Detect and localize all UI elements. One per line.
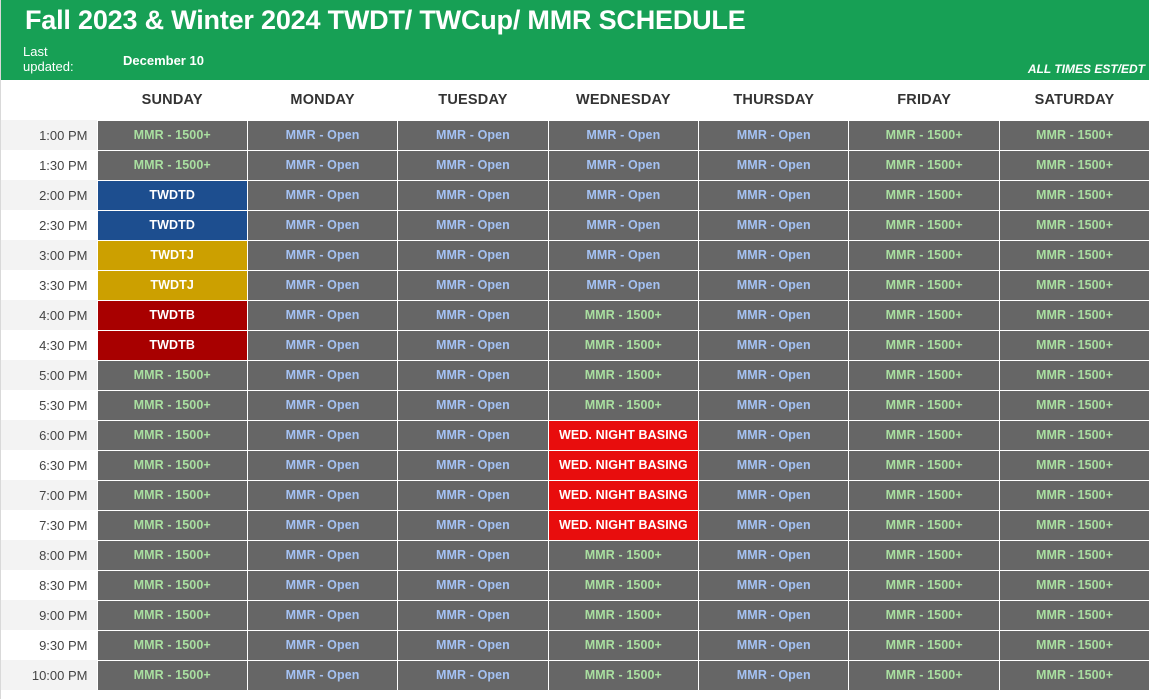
time-label: 7:30 PM xyxy=(1,510,97,540)
schedule-row: 9:00 PMMMR - 1500+MMR - OpenMMR - OpenMM… xyxy=(1,600,1149,630)
slot-saturday-mmr-1500[interactable]: MMR - 1500+ xyxy=(999,540,1149,570)
slot-sunday-mmr-1500[interactable]: MMR - 1500+ xyxy=(97,660,247,690)
slot-friday-mmr-1500[interactable]: MMR - 1500+ xyxy=(849,330,999,360)
time-label: 8:00 PM xyxy=(1,540,97,570)
slot-tuesday-mmr-open[interactable]: MMR - Open xyxy=(398,210,548,240)
schedule-row: 7:00 PMMMR - 1500+MMR - OpenMMR - OpenWE… xyxy=(1,480,1149,510)
slot-wednesday-mmr-open[interactable]: MMR - Open xyxy=(548,120,698,150)
slot-saturday-mmr-1500[interactable]: MMR - 1500+ xyxy=(999,180,1149,210)
last-updated-label: Last updated: xyxy=(23,44,101,74)
slot-thursday-mmr-open[interactable]: MMR - Open xyxy=(699,540,849,570)
slot-friday-mmr-1500[interactable]: MMR - 1500+ xyxy=(849,510,999,540)
slot-friday-mmr-1500[interactable]: MMR - 1500+ xyxy=(849,210,999,240)
slot-sunday-twdtj[interactable]: TWDTJ xyxy=(97,240,247,270)
slot-monday-mmr-open[interactable]: MMR - Open xyxy=(247,360,397,390)
slot-sunday-twdtd[interactable]: TWDTD xyxy=(97,180,247,210)
slot-sunday-mmr-1500[interactable]: MMR - 1500+ xyxy=(97,570,247,600)
day-header-thursday: THURSDAY xyxy=(699,80,849,120)
slot-tuesday-mmr-open[interactable]: MMR - Open xyxy=(398,270,548,300)
day-header-monday: MONDAY xyxy=(247,80,397,120)
slot-wednesday-mmr-1500[interactable]: MMR - 1500+ xyxy=(548,300,698,330)
day-header-row: SUNDAY MONDAY TUESDAY WEDNESDAY THURSDAY… xyxy=(1,80,1149,120)
slot-monday-mmr-open[interactable]: MMR - Open xyxy=(247,420,397,450)
slot-tuesday-mmr-open[interactable]: MMR - Open xyxy=(398,420,548,450)
slot-monday-mmr-open[interactable]: MMR - Open xyxy=(247,540,397,570)
time-label: 9:00 PM xyxy=(1,600,97,630)
slot-thursday-mmr-open[interactable]: MMR - Open xyxy=(699,240,849,270)
slot-monday-mmr-open[interactable]: MMR - Open xyxy=(247,330,397,360)
time-label: 6:00 PM xyxy=(1,420,97,450)
schedule-table: SUNDAY MONDAY TUESDAY WEDNESDAY THURSDAY… xyxy=(1,80,1149,691)
schedule-row: 5:00 PMMMR - 1500+MMR - OpenMMR - OpenMM… xyxy=(1,360,1149,390)
schedule-row: 10:00 PMMMR - 1500+MMR - OpenMMR - OpenM… xyxy=(1,660,1149,690)
slot-wednesday-mmr-1500[interactable]: MMR - 1500+ xyxy=(548,360,698,390)
slot-friday-mmr-1500[interactable]: MMR - 1500+ xyxy=(849,300,999,330)
slot-saturday-mmr-1500[interactable]: MMR - 1500+ xyxy=(999,240,1149,270)
slot-friday-mmr-1500[interactable]: MMR - 1500+ xyxy=(849,270,999,300)
slot-tuesday-mmr-open[interactable]: MMR - Open xyxy=(398,390,548,420)
slot-saturday-mmr-1500[interactable]: MMR - 1500+ xyxy=(999,600,1149,630)
slot-friday-mmr-1500[interactable]: MMR - 1500+ xyxy=(849,390,999,420)
slot-tuesday-mmr-open[interactable]: MMR - Open xyxy=(398,240,548,270)
slot-wednesday-mmr-1500[interactable]: MMR - 1500+ xyxy=(548,390,698,420)
time-label: 7:00 PM xyxy=(1,480,97,510)
slot-sunday-mmr-1500[interactable]: MMR - 1500+ xyxy=(97,390,247,420)
slot-sunday-mmr-1500[interactable]: MMR - 1500+ xyxy=(97,510,247,540)
slot-friday-mmr-1500[interactable]: MMR - 1500+ xyxy=(849,360,999,390)
slot-sunday-mmr-1500[interactable]: MMR - 1500+ xyxy=(97,600,247,630)
slot-sunday-mmr-1500[interactable]: MMR - 1500+ xyxy=(97,630,247,660)
day-header-sunday: SUNDAY xyxy=(97,80,247,120)
slot-thursday-mmr-open[interactable]: MMR - Open xyxy=(699,450,849,480)
slot-monday-mmr-open[interactable]: MMR - Open xyxy=(247,240,397,270)
slot-friday-mmr-1500[interactable]: MMR - 1500+ xyxy=(849,570,999,600)
slot-sunday-twdtd[interactable]: TWDTD xyxy=(97,210,247,240)
slot-friday-mmr-1500[interactable]: MMR - 1500+ xyxy=(849,630,999,660)
slot-saturday-mmr-1500[interactable]: MMR - 1500+ xyxy=(999,390,1149,420)
slot-thursday-mmr-open[interactable]: MMR - Open xyxy=(699,300,849,330)
schedule-row: 5:30 PMMMR - 1500+MMR - OpenMMR - OpenMM… xyxy=(1,390,1149,420)
slot-monday-mmr-open[interactable]: MMR - Open xyxy=(247,630,397,660)
slot-tuesday-mmr-open[interactable]: MMR - Open xyxy=(398,540,548,570)
day-header-wednesday: WEDNESDAY xyxy=(548,80,698,120)
slot-wednesday-mmr-1500[interactable]: MMR - 1500+ xyxy=(548,570,698,600)
slot-sunday-mmr-1500[interactable]: MMR - 1500+ xyxy=(97,450,247,480)
slot-thursday-mmr-open[interactable]: MMR - Open xyxy=(699,330,849,360)
slot-thursday-mmr-open[interactable]: MMR - Open xyxy=(699,480,849,510)
slot-friday-mmr-1500[interactable]: MMR - 1500+ xyxy=(849,180,999,210)
slot-sunday-twdtb[interactable]: TWDTB xyxy=(97,330,247,360)
time-label: 2:30 PM xyxy=(1,210,97,240)
day-header-tuesday: TUESDAY xyxy=(398,80,548,120)
slot-saturday-mmr-1500[interactable]: MMR - 1500+ xyxy=(999,630,1149,660)
slot-thursday-mmr-open[interactable]: MMR - Open xyxy=(699,120,849,150)
slot-monday-mmr-open[interactable]: MMR - Open xyxy=(247,150,397,180)
slot-wednesday-mmr-1500[interactable]: MMR - 1500+ xyxy=(548,330,698,360)
schedule-table-head: SUNDAY MONDAY TUESDAY WEDNESDAY THURSDAY… xyxy=(1,80,1149,120)
time-label: 10:00 PM xyxy=(1,660,97,690)
schedule-row: 2:00 PMTWDTDMMR - OpenMMR - OpenMMR - Op… xyxy=(1,180,1149,210)
slot-tuesday-mmr-open[interactable]: MMR - Open xyxy=(398,480,548,510)
time-label: 4:00 PM xyxy=(1,300,97,330)
slot-tuesday-mmr-open[interactable]: MMR - Open xyxy=(398,180,548,210)
slot-saturday-mmr-1500[interactable]: MMR - 1500+ xyxy=(999,360,1149,390)
slot-saturday-mmr-1500[interactable]: MMR - 1500+ xyxy=(999,570,1149,600)
slot-monday-mmr-open[interactable]: MMR - Open xyxy=(247,660,397,690)
slot-sunday-mmr-1500[interactable]: MMR - 1500+ xyxy=(97,150,247,180)
slot-tuesday-mmr-open[interactable]: MMR - Open xyxy=(398,150,548,180)
slot-monday-mmr-open[interactable]: MMR - Open xyxy=(247,570,397,600)
day-header-friday: FRIDAY xyxy=(849,80,999,120)
slot-friday-mmr-1500[interactable]: MMR - 1500+ xyxy=(849,600,999,630)
slot-wednesday-basing[interactable]: WED. NIGHT BASING xyxy=(548,510,698,540)
time-label: 1:30 PM xyxy=(1,150,97,180)
slot-tuesday-mmr-open[interactable]: MMR - Open xyxy=(398,300,548,330)
schedule-page: Fall 2023 & Winter 2024 TWDT/ TWCup/ MMR… xyxy=(0,0,1149,699)
slot-monday-mmr-open[interactable]: MMR - Open xyxy=(247,180,397,210)
slot-thursday-mmr-open[interactable]: MMR - Open xyxy=(699,660,849,690)
slot-monday-mmr-open[interactable]: MMR - Open xyxy=(247,450,397,480)
page-title: Fall 2023 & Winter 2024 TWDT/ TWCup/ MMR… xyxy=(25,5,746,36)
slot-tuesday-mmr-open[interactable]: MMR - Open xyxy=(398,510,548,540)
timezone-note: ALL TIMES EST/EDT xyxy=(1028,62,1145,76)
slot-monday-mmr-open[interactable]: MMR - Open xyxy=(247,390,397,420)
slot-wednesday-mmr-open[interactable]: MMR - Open xyxy=(548,240,698,270)
time-label: 9:30 PM xyxy=(1,630,97,660)
time-label: 3:00 PM xyxy=(1,240,97,270)
slot-wednesday-mmr-1500[interactable]: MMR - 1500+ xyxy=(548,540,698,570)
time-column-header xyxy=(1,80,97,120)
slot-sunday-mmr-1500[interactable]: MMR - 1500+ xyxy=(97,480,247,510)
slot-tuesday-mmr-open[interactable]: MMR - Open xyxy=(398,360,548,390)
slot-monday-mmr-open[interactable]: MMR - Open xyxy=(247,300,397,330)
slot-saturday-mmr-1500[interactable]: MMR - 1500+ xyxy=(999,330,1149,360)
slot-tuesday-mmr-open[interactable]: MMR - Open xyxy=(398,630,548,660)
schedule-row: 3:30 PMTWDTJMMR - OpenMMR - OpenMMR - Op… xyxy=(1,270,1149,300)
schedule-row: 6:00 PMMMR - 1500+MMR - OpenMMR - OpenWE… xyxy=(1,420,1149,450)
time-label: 2:00 PM xyxy=(1,180,97,210)
day-header-saturday: SATURDAY xyxy=(999,80,1149,120)
slot-monday-mmr-open[interactable]: MMR - Open xyxy=(247,210,397,240)
slot-friday-mmr-1500[interactable]: MMR - 1500+ xyxy=(849,420,999,450)
schedule-row: 4:00 PMTWDTBMMR - OpenMMR - OpenMMR - 15… xyxy=(1,300,1149,330)
schedule-row: 2:30 PMTWDTDMMR - OpenMMR - OpenMMR - Op… xyxy=(1,210,1149,240)
time-label: 3:30 PM xyxy=(1,270,97,300)
time-label: 5:30 PM xyxy=(1,390,97,420)
slot-friday-mmr-1500[interactable]: MMR - 1500+ xyxy=(849,150,999,180)
slot-tuesday-mmr-open[interactable]: MMR - Open xyxy=(398,660,548,690)
last-updated-value: December 10 xyxy=(123,53,204,68)
slot-monday-mmr-open[interactable]: MMR - Open xyxy=(247,270,397,300)
slot-wednesday-mmr-open[interactable]: MMR - Open xyxy=(548,180,698,210)
slot-tuesday-mmr-open[interactable]: MMR - Open xyxy=(398,600,548,630)
slot-sunday-twdtb[interactable]: TWDTB xyxy=(97,300,247,330)
slot-saturday-mmr-1500[interactable]: MMR - 1500+ xyxy=(999,120,1149,150)
slot-monday-mmr-open[interactable]: MMR - Open xyxy=(247,480,397,510)
time-label: 8:30 PM xyxy=(1,570,97,600)
slot-tuesday-mmr-open[interactable]: MMR - Open xyxy=(398,450,548,480)
slot-saturday-mmr-1500[interactable]: MMR - 1500+ xyxy=(999,420,1149,450)
slot-thursday-mmr-open[interactable]: MMR - Open xyxy=(699,600,849,630)
slot-wednesday-mmr-1500[interactable]: MMR - 1500+ xyxy=(548,630,698,660)
schedule-row: 1:30 PMMMR - 1500+MMR - OpenMMR - OpenMM… xyxy=(1,150,1149,180)
slot-sunday-twdtj[interactable]: TWDTJ xyxy=(97,270,247,300)
slot-saturday-mmr-1500[interactable]: MMR - 1500+ xyxy=(999,450,1149,480)
slot-sunday-mmr-1500[interactable]: MMR - 1500+ xyxy=(97,120,247,150)
page-banner: Fall 2023 & Winter 2024 TWDT/ TWCup/ MMR… xyxy=(1,0,1149,80)
slot-saturday-mmr-1500[interactable]: MMR - 1500+ xyxy=(999,300,1149,330)
slot-monday-mmr-open[interactable]: MMR - Open xyxy=(247,600,397,630)
schedule-row: 3:00 PMTWDTJMMR - OpenMMR - OpenMMR - Op… xyxy=(1,240,1149,270)
slot-friday-mmr-1500[interactable]: MMR - 1500+ xyxy=(849,450,999,480)
slot-saturday-mmr-1500[interactable]: MMR - 1500+ xyxy=(999,270,1149,300)
slot-saturday-mmr-1500[interactable]: MMR - 1500+ xyxy=(999,150,1149,180)
schedule-row: 8:30 PMMMR - 1500+MMR - OpenMMR - OpenMM… xyxy=(1,570,1149,600)
slot-sunday-mmr-1500[interactable]: MMR - 1500+ xyxy=(97,420,247,450)
slot-thursday-mmr-open[interactable]: MMR - Open xyxy=(699,510,849,540)
slot-tuesday-mmr-open[interactable]: MMR - Open xyxy=(398,570,548,600)
slot-thursday-mmr-open[interactable]: MMR - Open xyxy=(699,390,849,420)
slot-friday-mmr-1500[interactable]: MMR - 1500+ xyxy=(849,540,999,570)
schedule-row: 9:30 PMMMR - 1500+MMR - OpenMMR - OpenMM… xyxy=(1,630,1149,660)
slot-friday-mmr-1500[interactable]: MMR - 1500+ xyxy=(849,480,999,510)
slot-wednesday-mmr-open[interactable]: MMR - Open xyxy=(548,270,698,300)
time-label: 1:00 PM xyxy=(1,120,97,150)
slot-thursday-mmr-open[interactable]: MMR - Open xyxy=(699,270,849,300)
schedule-row: 7:30 PMMMR - 1500+MMR - OpenMMR - OpenWE… xyxy=(1,510,1149,540)
slot-wednesday-basing[interactable]: WED. NIGHT BASING xyxy=(548,420,698,450)
slot-friday-mmr-1500[interactable]: MMR - 1500+ xyxy=(849,240,999,270)
slot-saturday-mmr-1500[interactable]: MMR - 1500+ xyxy=(999,660,1149,690)
schedule-row: 1:00 PMMMR - 1500+MMR - OpenMMR - OpenMM… xyxy=(1,120,1149,150)
slot-thursday-mmr-open[interactable]: MMR - Open xyxy=(699,570,849,600)
time-label: 6:30 PM xyxy=(1,450,97,480)
slot-saturday-mmr-1500[interactable]: MMR - 1500+ xyxy=(999,210,1149,240)
slot-thursday-mmr-open[interactable]: MMR - Open xyxy=(699,420,849,450)
slot-thursday-mmr-open[interactable]: MMR - Open xyxy=(699,210,849,240)
schedule-row: 8:00 PMMMR - 1500+MMR - OpenMMR - OpenMM… xyxy=(1,540,1149,570)
slot-sunday-mmr-1500[interactable]: MMR - 1500+ xyxy=(97,540,247,570)
slot-wednesday-mmr-1500[interactable]: MMR - 1500+ xyxy=(548,600,698,630)
slot-monday-mmr-open[interactable]: MMR - Open xyxy=(247,120,397,150)
slot-wednesday-basing[interactable]: WED. NIGHT BASING xyxy=(548,480,698,510)
schedule-row: 6:30 PMMMR - 1500+MMR - OpenMMR - OpenWE… xyxy=(1,450,1149,480)
slot-tuesday-mmr-open[interactable]: MMR - Open xyxy=(398,330,548,360)
slot-wednesday-basing[interactable]: WED. NIGHT BASING xyxy=(548,450,698,480)
slot-saturday-mmr-1500[interactable]: MMR - 1500+ xyxy=(999,480,1149,510)
slot-friday-mmr-1500[interactable]: MMR - 1500+ xyxy=(849,660,999,690)
slot-friday-mmr-1500[interactable]: MMR - 1500+ xyxy=(849,120,999,150)
time-label: 5:00 PM xyxy=(1,360,97,390)
slot-thursday-mmr-open[interactable]: MMR - Open xyxy=(699,150,849,180)
time-label: 4:30 PM xyxy=(1,330,97,360)
schedule-row: 4:30 PMTWDTBMMR - OpenMMR - OpenMMR - 15… xyxy=(1,330,1149,360)
slot-thursday-mmr-open[interactable]: MMR - Open xyxy=(699,360,849,390)
schedule-table-body: 1:00 PMMMR - 1500+MMR - OpenMMR - OpenMM… xyxy=(1,120,1149,690)
slot-sunday-mmr-1500[interactable]: MMR - 1500+ xyxy=(97,360,247,390)
slot-tuesday-mmr-open[interactable]: MMR - Open xyxy=(398,120,548,150)
slot-thursday-mmr-open[interactable]: MMR - Open xyxy=(699,630,849,660)
slot-wednesday-mmr-1500[interactable]: MMR - 1500+ xyxy=(548,660,698,690)
slot-wednesday-mmr-open[interactable]: MMR - Open xyxy=(548,150,698,180)
slot-wednesday-mmr-open[interactable]: MMR - Open xyxy=(548,210,698,240)
slot-saturday-mmr-1500[interactable]: MMR - 1500+ xyxy=(999,510,1149,540)
slot-thursday-mmr-open[interactable]: MMR - Open xyxy=(699,180,849,210)
slot-monday-mmr-open[interactable]: MMR - Open xyxy=(247,510,397,540)
